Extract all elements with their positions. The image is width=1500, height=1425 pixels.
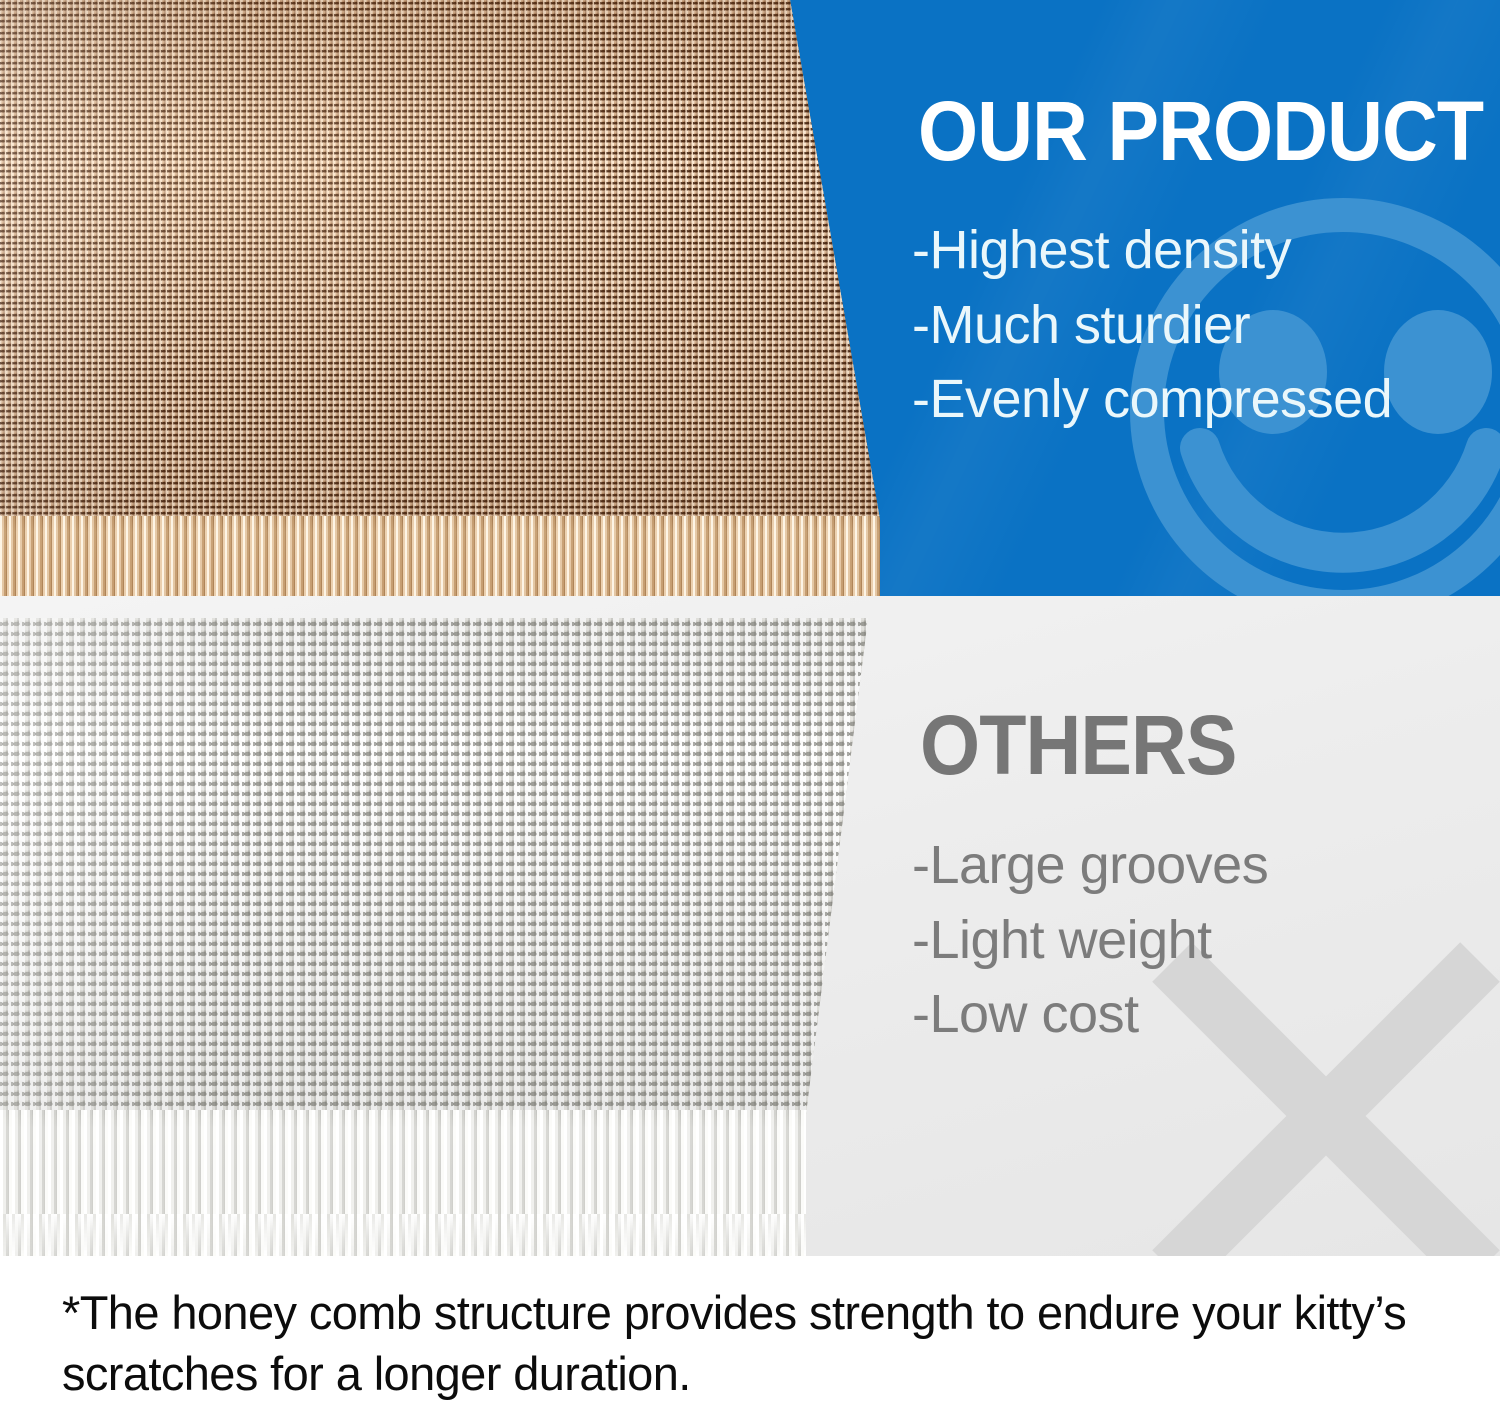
list-item: -Low cost [912,977,1472,1052]
our-product-cardboard-image [0,0,905,596]
footnote-text: *The honey comb structure provides stren… [62,1282,1462,1404]
others-honeycomb-image [0,618,900,1256]
list-item: -Light weight [912,903,1472,978]
white-honeycomb-shading [0,618,900,1118]
cardboard-side-edge [0,516,905,596]
cardboard-honeycomb-surface [0,0,905,522]
white-edge-fray [0,1214,900,1256]
our-product-panel: OUR PRODUCT -Highest density -Much sturd… [0,0,1500,596]
cardboard-shading [0,0,905,522]
others-feature-list: -Large grooves -Light weight -Low cost [912,828,1472,1052]
others-title: OTHERS [920,706,1237,786]
list-item: -Evenly compressed [912,362,1492,437]
our-product-feature-list: -Highest density -Much sturdier -Evenly … [912,213,1492,437]
list-item: -Highest density [912,213,1492,288]
comparison-infographic: OUR PRODUCT -Highest density -Much sturd… [0,0,1500,1425]
white-honeycomb-surface [0,618,900,1118]
white-board-side-edge [0,1110,900,1256]
our-product-title: OUR PRODUCT [918,92,1483,172]
list-item: -Much sturdier [912,288,1492,363]
footnote-section: *The honey comb structure provides stren… [0,1256,1500,1425]
list-item: -Large grooves [912,828,1472,903]
